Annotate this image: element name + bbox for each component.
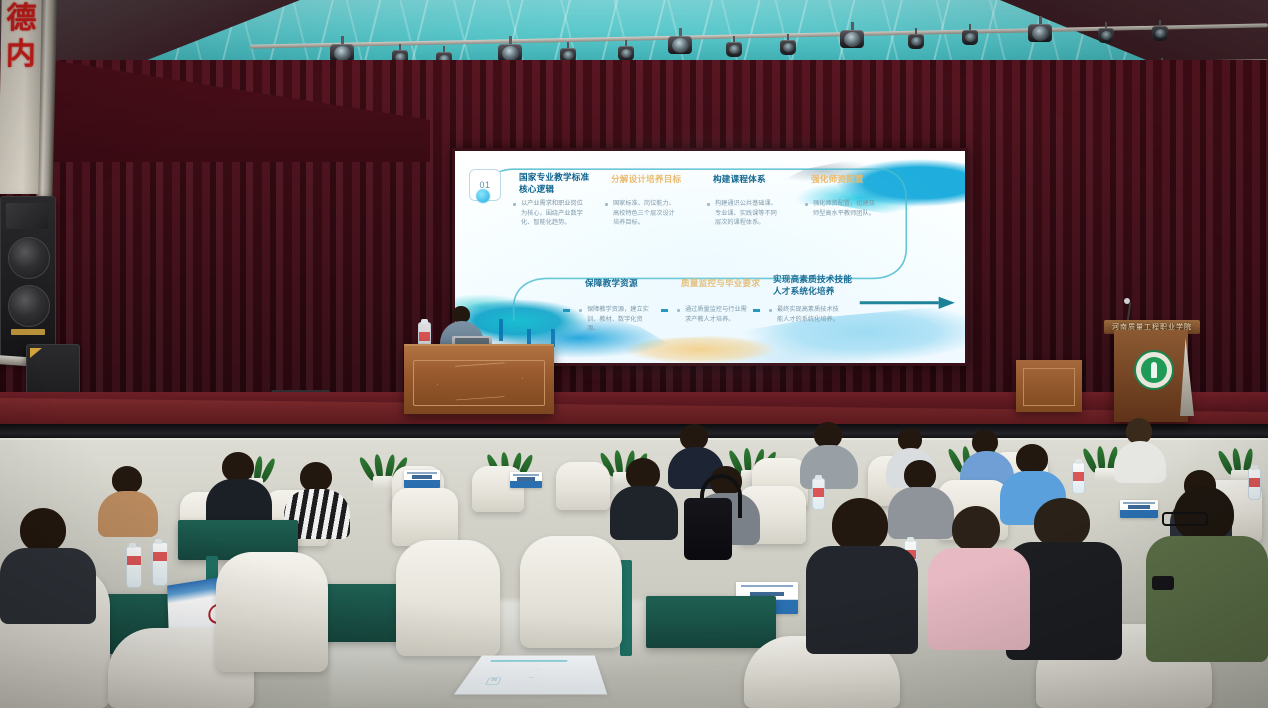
eyeglasses-icon xyxy=(1162,512,1208,526)
bullet-bar-icon xyxy=(753,309,760,312)
vertical-red-banner: 德 内 xyxy=(0,0,42,194)
slide-heading: 国家专业教学标准核心逻辑 xyxy=(519,173,591,196)
audience-member xyxy=(800,422,858,486)
stage-light xyxy=(840,22,864,60)
water-bottle xyxy=(152,542,168,586)
bullet-icon xyxy=(805,203,808,206)
badge-dot-icon xyxy=(476,189,490,203)
slide-heading: 强化师资配置 xyxy=(811,175,893,187)
stage-light xyxy=(726,36,742,62)
bullet-icon xyxy=(579,309,582,312)
wristwatch-icon xyxy=(1152,576,1174,590)
slide-body-text: 通过质量监控与行业需求产教人才培养。 xyxy=(685,305,747,324)
slide-body-text: 保障教学资源，建立实训、教材、数字化资源。 xyxy=(587,305,651,334)
bullet-icon xyxy=(677,309,680,312)
bullet-icon xyxy=(707,203,710,206)
audience-member xyxy=(0,508,96,618)
audience-member xyxy=(928,506,1030,646)
slide-body-text: 以产业需求和职业岗位为核心，围绕产业数字化、智能化趋势。 xyxy=(521,199,587,228)
slide-body-text: 国家标准、岗位能力、高校特色三个层次设计培养目标。 xyxy=(613,199,677,228)
banner-character: 内 xyxy=(5,40,36,70)
audience-member xyxy=(98,466,158,534)
slide-heading: 保障教学资源 xyxy=(585,279,665,291)
water-bottle xyxy=(1072,462,1085,494)
audience-chair xyxy=(556,462,610,510)
slide-body-text: 最终实现高素质技术技能人才的系统化培养。 xyxy=(777,305,843,324)
led-display-screen: 01 国家专业教学标准核心逻辑 以产业需求和职业岗位为核心，围绕产业数字化、智能… xyxy=(452,148,968,366)
audience-chair xyxy=(520,536,622,648)
slide-heading: 质量监控与毕业要求 xyxy=(681,279,777,291)
black-handbag xyxy=(684,498,732,560)
slide-body-text: 强化师资配置，组建双师型高水平教师团队。 xyxy=(813,199,879,218)
bullet-bar-icon xyxy=(563,309,570,312)
bullet-icon xyxy=(769,309,772,312)
stage-light xyxy=(908,28,924,54)
audience-member xyxy=(610,458,678,538)
audience-chair xyxy=(396,540,500,656)
presentation-slide: 01 国家专业教学标准核心逻辑 以产业需求和职业岗位为核心，围绕产业数字化、智能… xyxy=(455,151,965,363)
banner-character: 德 xyxy=(6,4,37,34)
wall-mounted-pa-speaker xyxy=(0,196,56,362)
audience-chair xyxy=(392,488,458,546)
stage-light xyxy=(1028,16,1052,54)
presenter-table xyxy=(404,344,554,414)
audience-member xyxy=(206,452,272,528)
audience-member xyxy=(1114,418,1166,480)
stage-light xyxy=(780,34,796,60)
slide-body-text: 构建通识公共基础课、专业课、实践课等不同层次的课程体系。 xyxy=(715,199,781,228)
name-placard xyxy=(510,472,542,488)
bullet-bar-icon xyxy=(661,309,668,312)
name-placard xyxy=(404,470,440,488)
audience-desk xyxy=(646,596,776,648)
handout-badge-number: 01 xyxy=(485,678,502,685)
slide-heading: 构建课程体系 xyxy=(713,175,789,187)
slide-heading: 分解设计培养目标 xyxy=(611,175,703,187)
bullet-icon xyxy=(513,203,516,206)
university-emblem-icon xyxy=(1134,350,1174,390)
water-bottle xyxy=(126,546,142,588)
slide-heading: 实现高素质技术技能人才系统化培养 xyxy=(773,275,855,298)
printed-handout: 01 ··· ··· xyxy=(454,655,607,694)
stage-light xyxy=(962,24,978,50)
stage-side-table xyxy=(1016,360,1082,412)
audience-chair xyxy=(216,552,328,672)
audience-member xyxy=(806,498,918,648)
stage-light xyxy=(1152,20,1168,46)
bullet-icon xyxy=(605,203,608,206)
screenshot-root: 德 内 xyxy=(0,0,1268,708)
stage-light xyxy=(1098,22,1114,48)
